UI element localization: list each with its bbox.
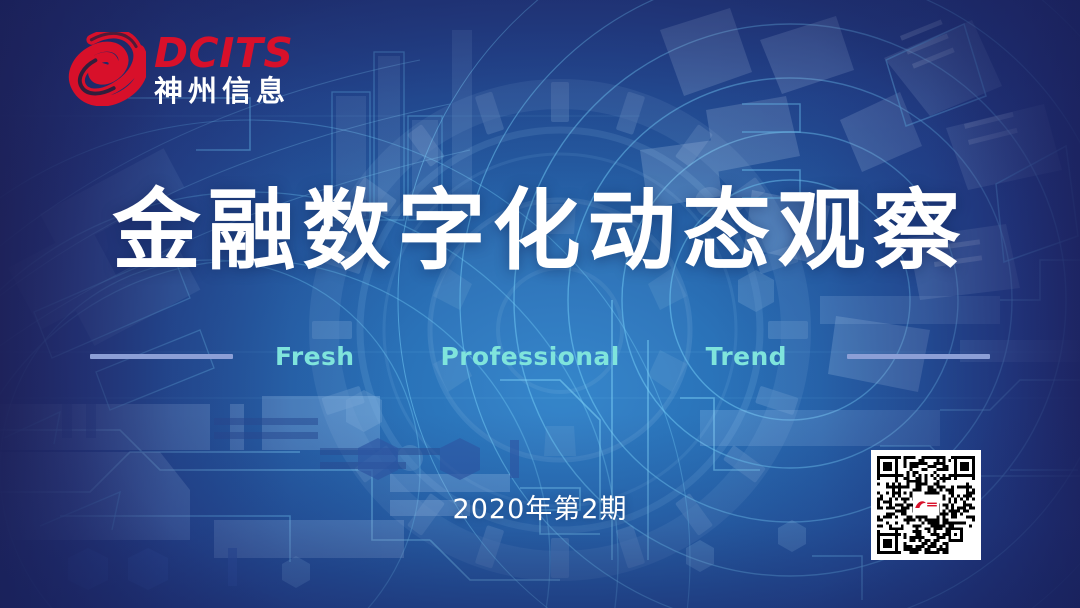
dcits-swirl-icon [68,32,146,106]
divider-line-left [90,354,233,359]
page-title: 金融数字化动态观察 [0,182,1080,281]
tagline-row: Fresh Professional Trend [0,340,1080,372]
presentation-slide: DCITS 神州信息 金融数字化动态观察 Fresh Professional … [0,0,1080,608]
qr-code-matrix [877,456,975,554]
brand-logo: DCITS 神州信息 [68,32,293,106]
brand-name-cn: 神州信息 [154,77,293,106]
qr-center-logo-icon [913,496,939,514]
tagline-words: Fresh Professional Trend [275,342,787,371]
divider-line-right [847,354,990,359]
tagline-professional: Professional [440,342,619,371]
tagline-fresh: Fresh [275,342,354,371]
brand-name-en: DCITS [154,33,293,74]
tagline-trend: Trend [706,342,787,371]
qr-code[interactable] [871,450,981,560]
